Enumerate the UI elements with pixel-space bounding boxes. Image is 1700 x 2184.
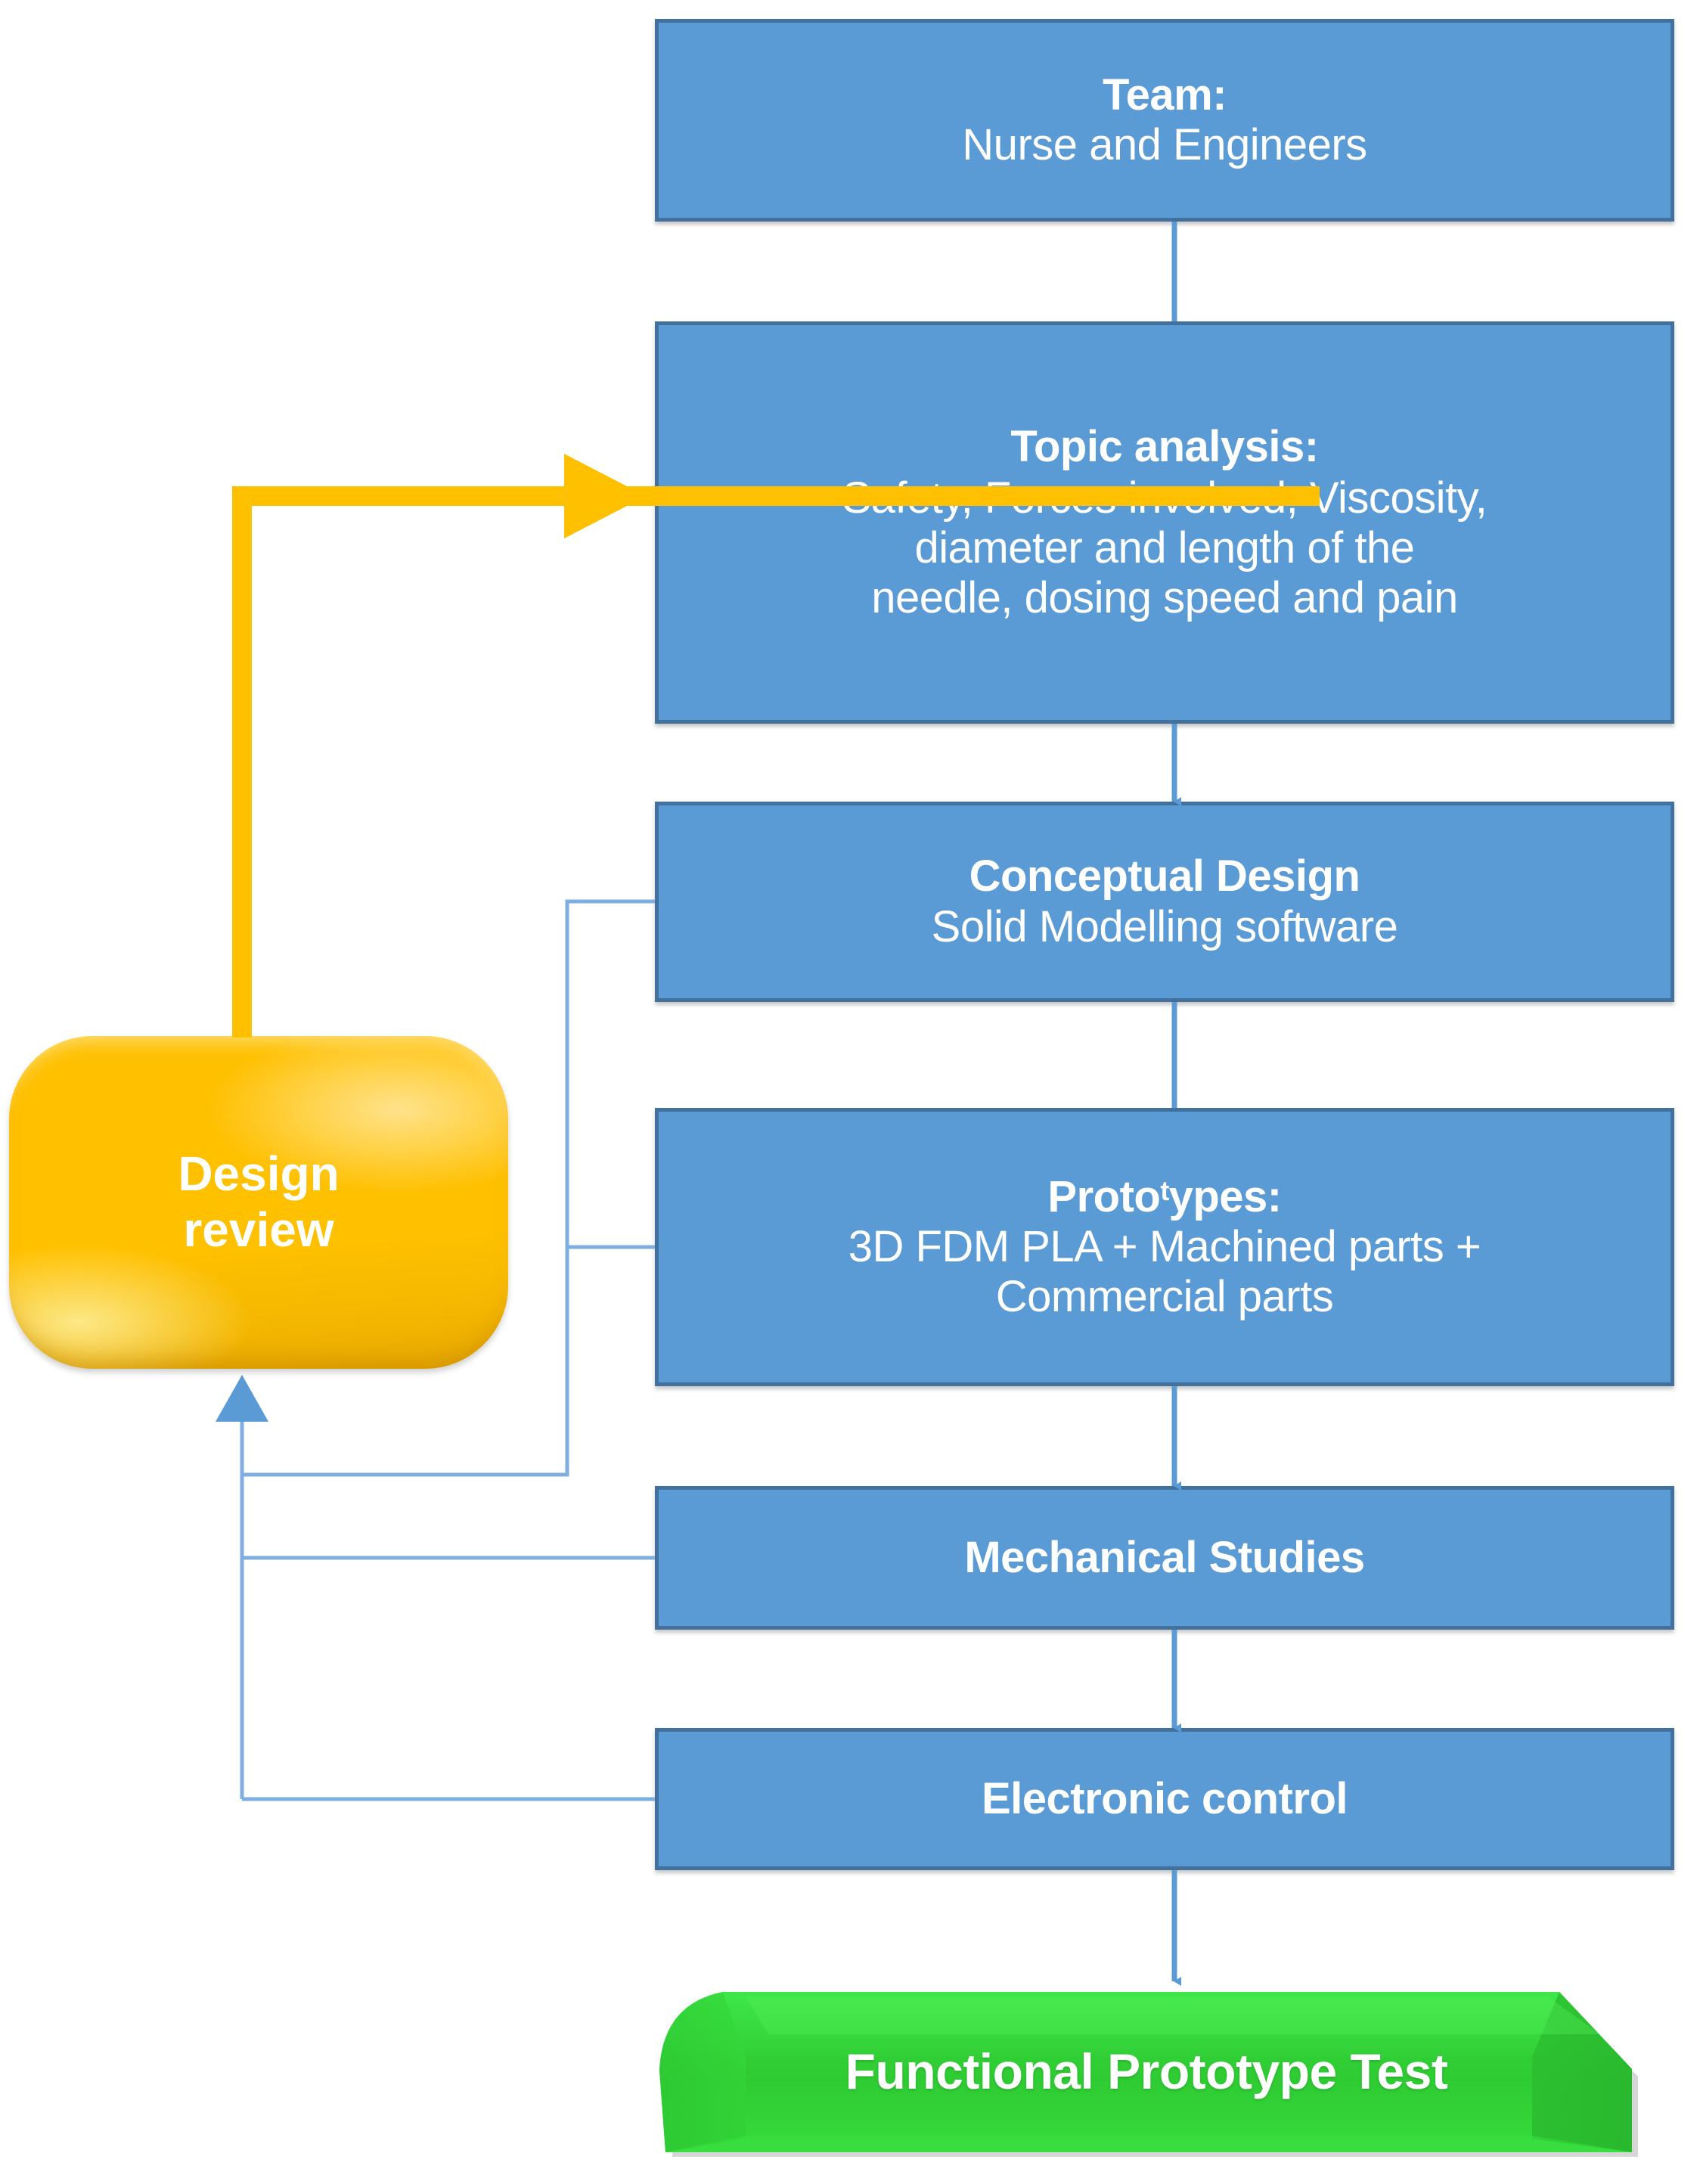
review-feedback-trunk — [216, 1375, 268, 1799]
node-topic-analysis-line2: diameter and length of the — [915, 523, 1415, 573]
node-functional-prototype-test[interactable]: Functional Prototype Test — [655, 1981, 1638, 2157]
node-electronic-control-title: Electronic control — [982, 1774, 1348, 1824]
functional-prototype-test-shape — [655, 1981, 1638, 2157]
node-prototypes-line1: 3D FDM PLA + Machined parts + — [848, 1222, 1481, 1272]
node-prototypes-title: Prototypes: — [1047, 1172, 1281, 1222]
node-design-review[interactable]: Design review — [9, 1036, 508, 1369]
node-prototypes-title-part1: Proto — [1047, 1172, 1160, 1221]
node-prototypes-line2: Commercial parts — [996, 1272, 1333, 1322]
node-topic-analysis-line1: Safety, Forces involved, Viscosity, — [842, 473, 1487, 523]
node-conceptual-design-subtitle: Solid Modelling software — [932, 902, 1398, 952]
node-electronic-control[interactable]: Electronic control — [655, 1728, 1674, 1870]
node-prototypes-title-part2: ypes: — [1169, 1172, 1282, 1221]
node-team[interactable]: Team: Nurse and Engineers — [655, 19, 1674, 222]
flowchart-canvas: Team: Nurse and Engineers Topic analysis… — [0, 0, 1700, 2184]
node-prototypes-title-superscript-t: t — [1160, 1175, 1168, 1206]
node-team-title: Team: — [1103, 70, 1227, 120]
node-team-subtitle: Nurse and Engineers — [962, 120, 1367, 170]
node-topic-analysis-line3: needle, dosing speed and pain — [871, 573, 1458, 623]
node-prototypes[interactable]: Prototypes: 3D FDM PLA + Machined parts … — [655, 1108, 1674, 1386]
node-topic-analysis[interactable]: Topic analysis: Safety, Forces involved,… — [655, 321, 1674, 724]
node-mechanical-studies-title: Mechanical Studies — [964, 1533, 1364, 1583]
node-conceptual-design[interactable]: Conceptual Design Solid Modelling softwa… — [655, 802, 1674, 1002]
node-design-review-line2: review — [183, 1202, 333, 1258]
node-design-review-line1: Design — [178, 1146, 339, 1202]
node-topic-analysis-title: Topic analysis: — [1010, 422, 1318, 472]
node-mechanical-studies[interactable]: Mechanical Studies — [655, 1486, 1674, 1630]
node-conceptual-design-title: Conceptual Design — [969, 852, 1360, 901]
